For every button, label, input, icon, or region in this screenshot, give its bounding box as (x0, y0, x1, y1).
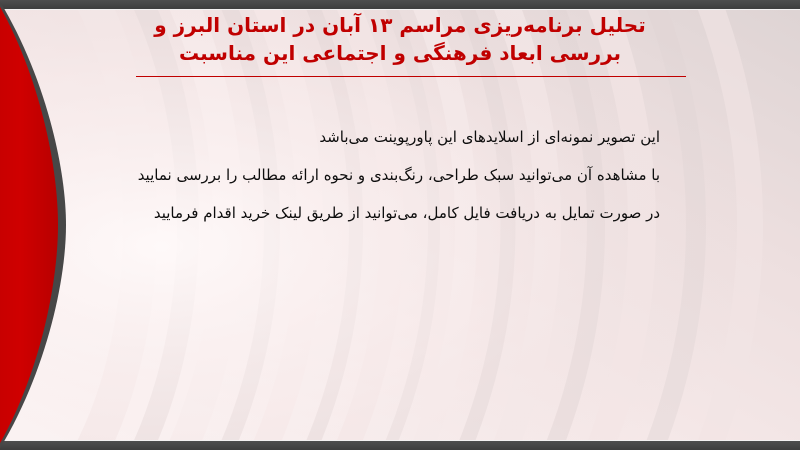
slide-canvas: تحلیل برنامه‌ریزی مراسم ۱۳ آبان در استان… (0, 0, 800, 450)
slide-content: تحلیل برنامه‌ریزی مراسم ۱۳ آبان در استان… (0, 0, 800, 450)
body-line-3: در صورت تمایل به دریافت فایل کامل، می‌تو… (120, 194, 660, 232)
body-line-2: با مشاهده آن می‌توانید سبک طراحی، رنگ‌بن… (120, 156, 660, 194)
slide-title: تحلیل برنامه‌ریزی مراسم ۱۳ آبان در استان… (110, 11, 690, 67)
slide-body: این تصویر نمونه‌ای از اسلایدهای این پاور… (120, 118, 660, 232)
title-line-2: بررسی ابعاد فرهنگی و اجتماعی این مناسبت (110, 39, 690, 67)
body-line-1: این تصویر نمونه‌ای از اسلایدهای این پاور… (120, 118, 660, 156)
title-line-1: تحلیل برنامه‌ریزی مراسم ۱۳ آبان در استان… (110, 11, 690, 39)
title-underline-rule (136, 76, 686, 77)
